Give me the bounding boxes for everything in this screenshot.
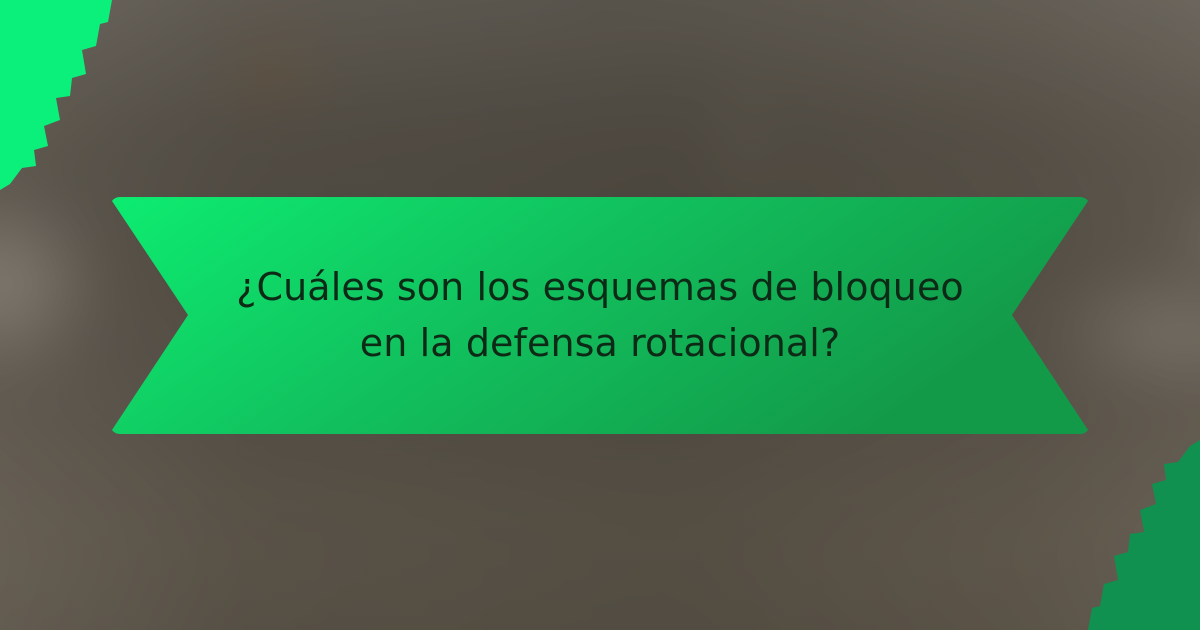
social-card: ¿Cuáles son los esquemas de bloqueo en l… xyxy=(0,0,1200,630)
question-text: ¿Cuáles son los esquemas de bloqueo en l… xyxy=(230,197,970,434)
question-banner: ¿Cuáles son los esquemas de bloqueo en l… xyxy=(110,197,1090,434)
